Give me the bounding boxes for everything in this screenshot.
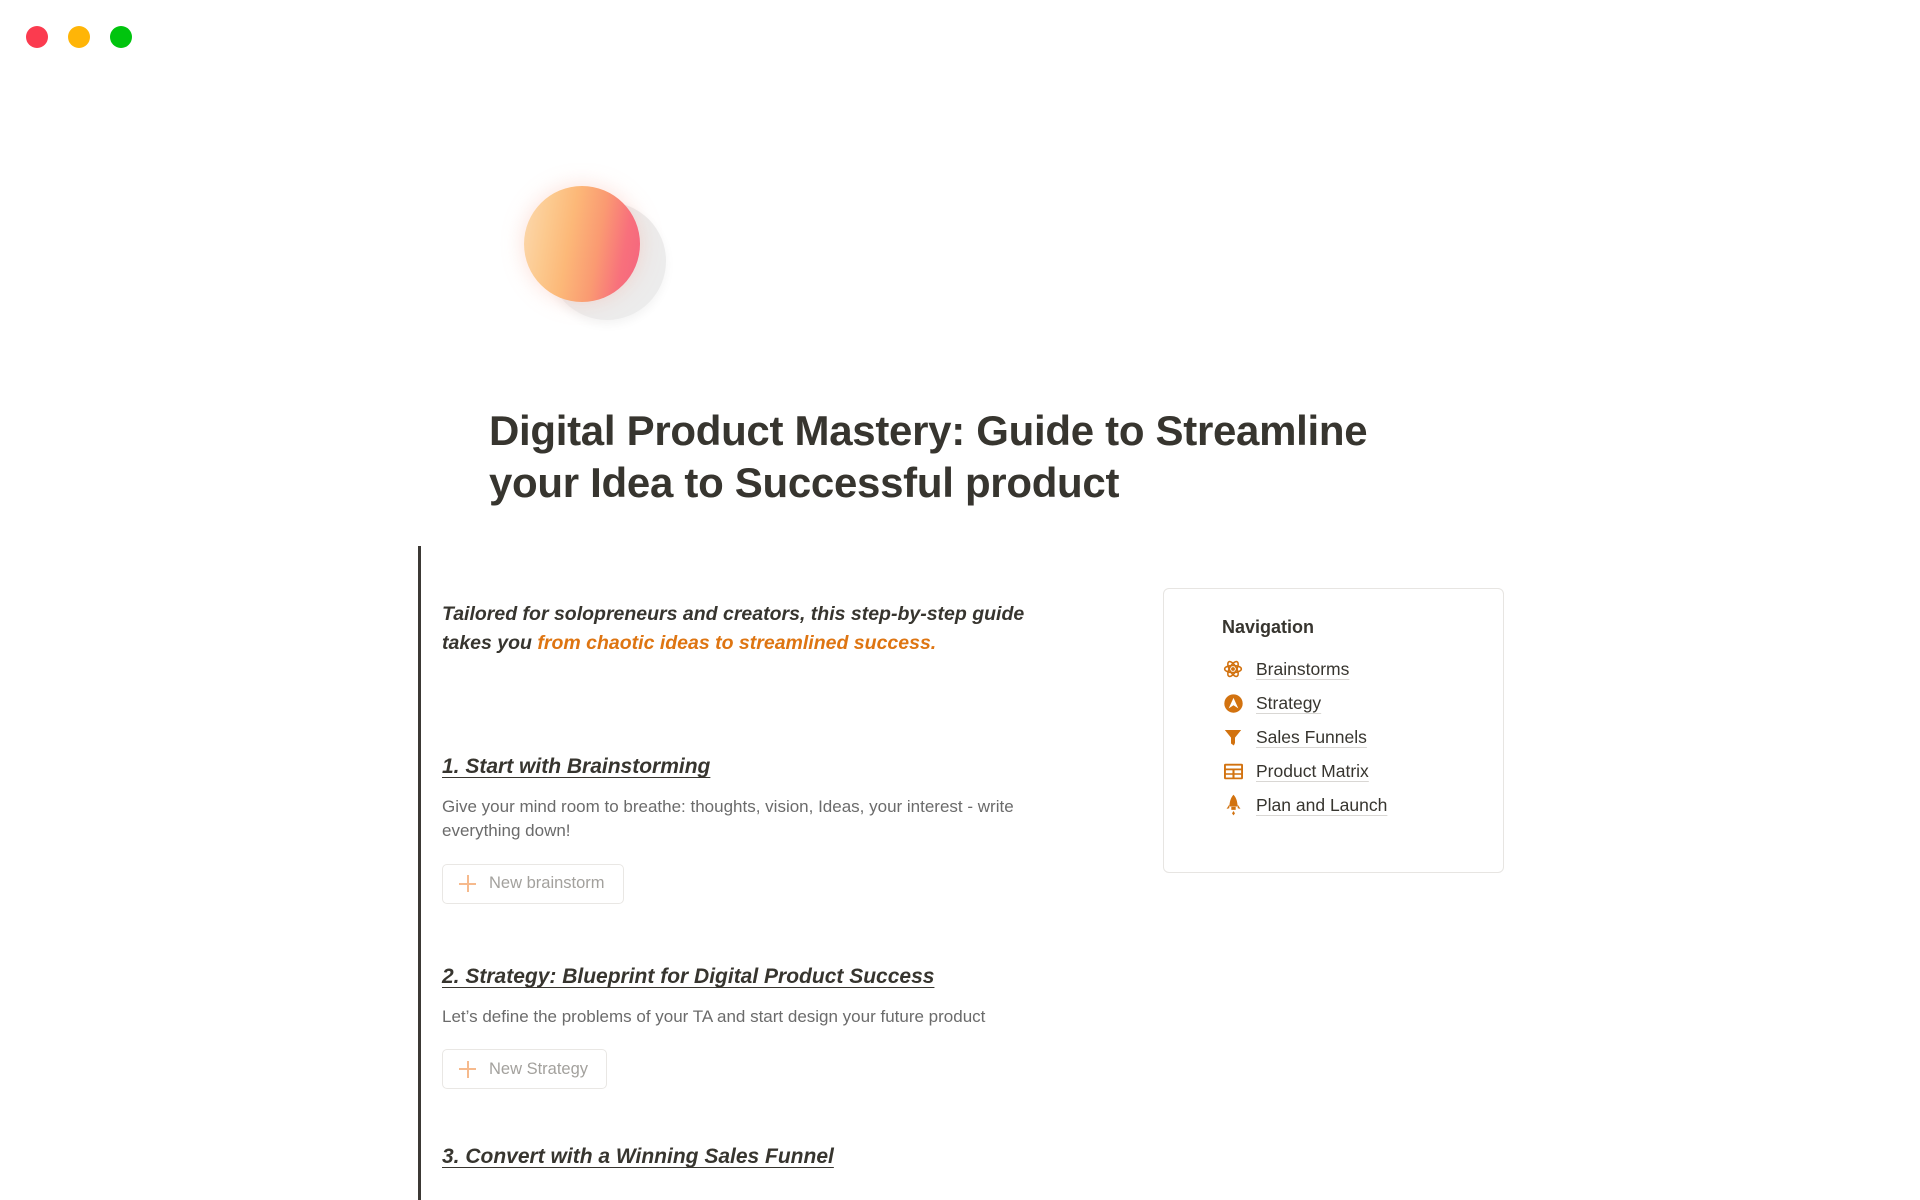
intro-highlight-text: from chaotic ideas to streamlined succes… (537, 632, 936, 654)
nav-item-label: Plan and Launch (1256, 795, 1387, 816)
navigation-panel: Navigation Brainstorms (1163, 588, 1504, 873)
rocket-icon (1222, 794, 1244, 816)
new-strategy-button[interactable]: New Strategy (442, 1049, 607, 1089)
section-heading[interactable]: 2. Strategy: Blueprint for Digital Produ… (442, 965, 934, 989)
nav-item-strategy[interactable]: Strategy (1164, 686, 1503, 720)
section-sales-funnel: 3. Convert with a Winning Sales Funnel (442, 1145, 1082, 1169)
section-body-text: Give your mind room to breathe: thoughts… (442, 795, 1062, 844)
new-strategy-button-label: New Strategy (489, 1060, 588, 1079)
nav-item-sales-funnels[interactable]: Sales Funnels (1164, 720, 1503, 754)
new-brainstorm-button[interactable]: New brainstorm (442, 864, 624, 904)
intro-paragraph: Tailored for solopreneurs and creators, … (442, 600, 1082, 657)
section-heading[interactable]: 3. Convert with a Winning Sales Funnel (442, 1145, 834, 1169)
nav-item-label: Product Matrix (1256, 761, 1369, 782)
table-grid-icon (1222, 760, 1244, 782)
nav-item-label: Brainstorms (1256, 659, 1349, 680)
page-title: Digital Product Mastery: Guide to Stream… (489, 405, 1409, 509)
nav-item-label: Sales Funnels (1256, 727, 1367, 748)
section-heading[interactable]: 1. Start with Brainstorming (442, 755, 710, 779)
atom-icon (1222, 658, 1244, 680)
plus-icon (459, 1061, 476, 1078)
section-strategy: 2. Strategy: Blueprint for Digital Produ… (442, 965, 1082, 1089)
section-brainstorming: 1. Start with Brainstorming Give your mi… (442, 755, 1082, 904)
plus-icon (459, 875, 476, 892)
document-page: Digital Product Mastery: Guide to Stream… (0, 0, 1920, 1200)
nav-item-plan-and-launch[interactable]: Plan and Launch (1164, 788, 1503, 822)
new-brainstorm-button-label: New brainstorm (489, 874, 605, 893)
gradient-circle-logo-icon (524, 186, 640, 302)
page-cover-logo (516, 180, 666, 340)
nav-item-brainstorms[interactable]: Brainstorms (1164, 652, 1503, 686)
section-body-text: Let’s define the problems of your TA and… (442, 1005, 1062, 1029)
nav-item-label: Strategy (1256, 693, 1321, 714)
funnel-icon (1222, 726, 1244, 748)
navigation-title: Navigation (1164, 617, 1503, 638)
navigation-list: Brainstorms Strategy Sales Funnels (1164, 652, 1503, 822)
nav-item-product-matrix[interactable]: Product Matrix (1164, 754, 1503, 788)
target-arrow-icon (1222, 692, 1244, 714)
